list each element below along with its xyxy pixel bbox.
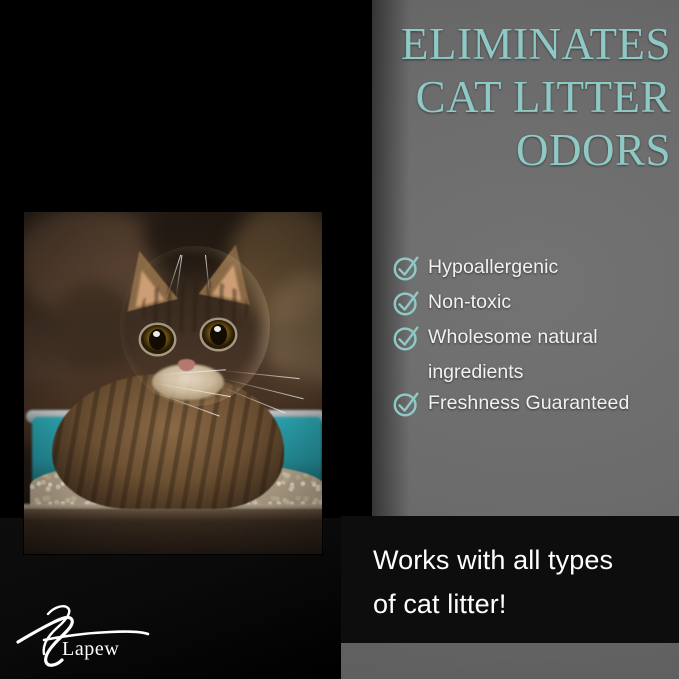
benefit-item: Wholesome natural xyxy=(392,322,677,354)
check-circle-icon xyxy=(392,389,428,420)
kitten xyxy=(24,212,322,554)
benefit-label: Wholesome natural xyxy=(428,322,598,353)
check-circle-icon xyxy=(392,323,428,354)
headline-line-3: ODORS xyxy=(251,124,671,177)
brand-logo: Lapew xyxy=(14,596,194,670)
product-ad-image: ELIMINATES CAT LITTER ODORS xyxy=(0,0,679,679)
check-circle-icon xyxy=(392,288,428,319)
benefit-label: Hypoallergenic xyxy=(428,252,558,283)
kitten-chest xyxy=(150,387,228,482)
benefit-item: Non-toxic xyxy=(392,287,677,319)
headline: ELIMINATES CAT LITTER ODORS xyxy=(251,18,671,177)
benefit-label: Freshness Guaranteed xyxy=(428,388,629,419)
benefits-list: Hypoallergenic Non-toxic Wholesome natur… xyxy=(392,252,677,423)
benefit-item: Hypoallergenic xyxy=(392,252,677,284)
brand-name: Lapew xyxy=(62,638,119,661)
kitten-eye-glint-right xyxy=(214,326,221,332)
callout-line-1: Works with all types xyxy=(373,538,679,582)
benefit-label: Non-toxic xyxy=(428,287,511,318)
benefit-item: Freshness Guaranteed xyxy=(392,388,677,420)
headline-line-1: ELIMINATES xyxy=(251,18,671,71)
headline-line-2: CAT LITTER xyxy=(251,71,671,124)
check-circle-icon xyxy=(392,253,428,284)
benefit-label-continued: ingredients xyxy=(428,357,677,388)
callout-line-2: of cat litter! xyxy=(373,582,679,626)
callout-box: Works with all types of cat litter! xyxy=(341,516,679,643)
kitten-eye-glint-left xyxy=(153,331,160,337)
product-photo xyxy=(24,212,322,554)
